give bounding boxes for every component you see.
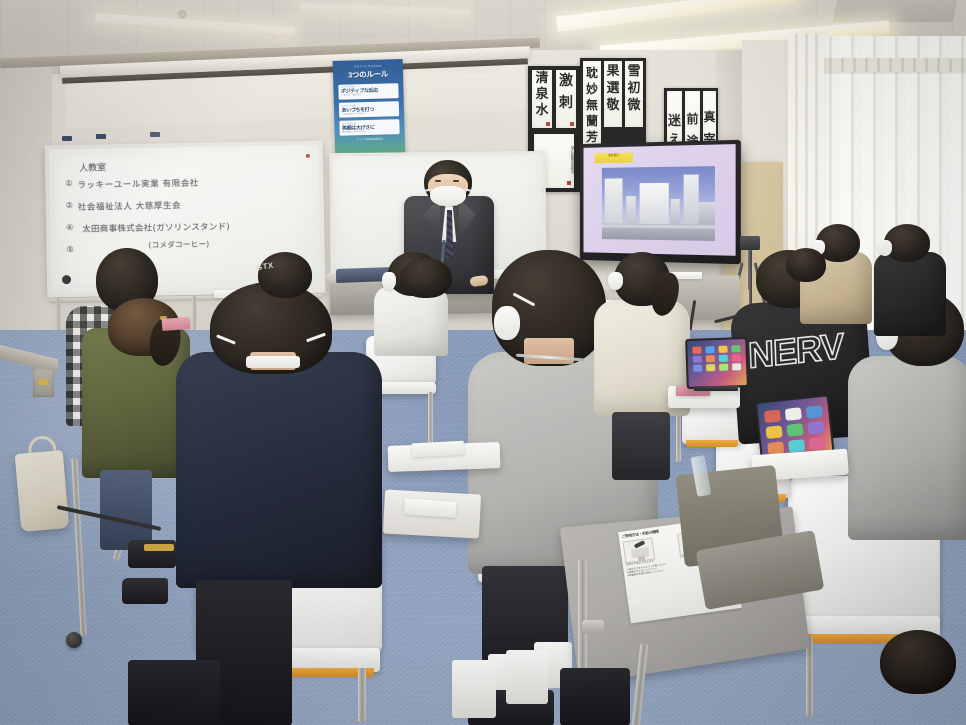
student-sock	[506, 650, 548, 704]
calligraphy-sheet: 清 泉 水	[532, 70, 552, 128]
ceiling-air-vent	[833, 0, 958, 22]
tablet-app-icon[interactable]	[706, 364, 715, 371]
calligraphy-character: 前	[685, 113, 700, 125]
student-shirt-collar	[246, 356, 300, 368]
slide-main-building	[639, 183, 668, 224]
tablet-app-icon[interactable]	[732, 355, 741, 362]
calligraphy-character: 真	[703, 111, 716, 123]
calligraphy-character: 刺	[556, 96, 576, 110]
calligraphy-character: 雪	[625, 65, 643, 78]
student-leg	[100, 470, 152, 550]
whiteboard-corner-magnet	[62, 275, 71, 284]
chair-leg	[428, 392, 433, 444]
student-face-mask	[878, 240, 892, 256]
slide-building	[671, 199, 680, 224]
whiteboard-magnet[interactable]	[62, 136, 72, 141]
classroom-rules-poster: クラスづくりのための 3つのルール ルール その1 ポジティブな反応 うなずき・…	[333, 59, 406, 159]
tablet-app-icon[interactable]	[692, 356, 701, 363]
tablet-app-icon[interactable]	[809, 436, 827, 450]
tablet-app-icon[interactable]	[692, 347, 701, 354]
rule-subtext: うなずき・拍手など	[341, 94, 396, 98]
student-face-mask	[382, 272, 396, 290]
student-head	[786, 248, 826, 282]
slide-building	[698, 202, 714, 225]
pink-item	[162, 317, 191, 331]
tote-bag	[15, 450, 70, 532]
poster-title: 3つのルール	[338, 69, 398, 82]
calligraphy-character: 激	[556, 74, 576, 88]
whiteboard-line-text: ラッキーユール実業 有限会社	[77, 177, 199, 191]
calligraphy-character: 微	[625, 99, 643, 112]
slide-building	[626, 196, 636, 224]
desk-papers	[412, 441, 465, 458]
calligraphy-character: 芳	[583, 131, 601, 143]
presenter-face-mask	[430, 186, 466, 206]
whiteboard-magnet[interactable]	[150, 132, 160, 137]
calligraphy-sheet: 雪 初 微	[625, 61, 643, 127]
tablet-app-icon[interactable]	[785, 408, 803, 422]
student-head	[258, 252, 312, 298]
calligraphy-character: 敬	[604, 99, 622, 112]
tablet-app-icon[interactable]	[705, 347, 714, 354]
chair-seat-edge	[686, 440, 738, 447]
calligraphy-seal	[567, 181, 571, 185]
calligraphy-seal	[546, 122, 550, 126]
tablet-device[interactable]	[685, 337, 749, 389]
tablet-app-grid[interactable]	[692, 346, 742, 381]
instruction-figure	[623, 538, 656, 564]
student-leg	[612, 412, 670, 480]
student-torso	[848, 356, 966, 540]
student-shoe	[122, 578, 168, 604]
student-face-mask	[608, 272, 623, 290]
calligraphy-character: 妙	[583, 83, 601, 95]
tablet-app-icon[interactable]	[718, 346, 727, 353]
whiteboard-red-marker-dot	[306, 154, 310, 158]
poster-footer: キャリア教育推進委員会	[340, 136, 400, 142]
whiteboard-line-number: ④	[66, 223, 73, 232]
calligraphy-character: 水	[532, 104, 552, 117]
poster-rule-card: ルール その2 あいづちを打つ 「なるほど」「いいね」	[339, 101, 399, 117]
chair-caster	[66, 632, 82, 648]
tablet-app-icon[interactable]	[719, 364, 728, 371]
tablet-app-icon[interactable]	[732, 363, 741, 370]
tablet-screen[interactable]	[687, 339, 747, 387]
student-leg	[560, 668, 630, 725]
calligraphy-character: 耽	[583, 67, 601, 79]
calligraphy-character: 選	[604, 82, 622, 95]
shoe-stripe	[144, 544, 174, 551]
tablet-app-icon[interactable]	[786, 423, 804, 437]
presentation-display[interactable]: 会社紹介	[580, 140, 741, 264]
tablet-app-icon[interactable]	[719, 355, 728, 362]
student-head	[880, 630, 956, 694]
poster-rule-card: ルール その3 笑顔は大げさに 相手が話しやすくなる	[339, 120, 399, 136]
calligraphy-character: 泉	[532, 88, 552, 101]
calligraphy-character: 果	[604, 65, 622, 78]
camera-head[interactable]	[740, 236, 760, 250]
poster-rule-card: ルール その1 ポジティブな反応 うなずき・拍手など	[338, 83, 398, 99]
chair-leg	[358, 668, 366, 722]
tablet-app-icon[interactable]	[806, 405, 824, 419]
classroom-scene-photo: 清 泉 水 激 刺 静心和敬清寂風流 耽 妙 無 蘭 芳 蒔 果 選 敬	[0, 0, 966, 725]
whiteboard-line-text: (コメダコーヒー)	[148, 239, 209, 251]
slide-building	[683, 175, 698, 224]
whiteboard-line-number: ②	[66, 201, 73, 210]
calligraphy-character: 初	[625, 82, 643, 95]
slide-label-badge: 会社紹介	[595, 153, 633, 163]
tablet-app-icon[interactable]	[706, 355, 715, 362]
wall-outlet-icon[interactable]	[33, 368, 54, 397]
whiteboard-line-number: ①	[65, 179, 72, 188]
calligraphy-seal	[570, 122, 574, 126]
slide-photo	[602, 166, 714, 241]
presenter-eye	[435, 180, 441, 182]
tablet-app-icon[interactable]	[788, 439, 806, 453]
whiteboard-line-number: ⑤	[66, 245, 73, 254]
tablet-app-grid[interactable]	[763, 405, 826, 454]
calligraphy-character: 迷	[667, 115, 682, 128]
student-head	[400, 258, 452, 298]
student-torso	[176, 352, 382, 588]
whiteboard-line-text: 社会福祉法人 大慈厚生会	[78, 199, 182, 213]
display-screen: 会社紹介	[584, 144, 736, 256]
tablet-stand	[694, 386, 738, 391]
calligraphy-character: 無	[583, 99, 601, 111]
calligraphy-character: 清	[532, 72, 552, 85]
calligraphy-character: 蘭	[583, 115, 601, 127]
student-sock	[452, 660, 496, 718]
slide-building	[604, 179, 622, 224]
calligraphy-sheet: 果 選 敬	[604, 61, 622, 127]
student-face-mask	[494, 306, 520, 340]
tablet-app-icon[interactable]	[807, 421, 825, 435]
tablet-app-icon[interactable]	[732, 346, 741, 353]
whiteboard-magnet[interactable]	[96, 134, 106, 139]
tablet-app-icon[interactable]	[763, 410, 781, 424]
whiteboard-header-text: 人教室	[79, 160, 106, 174]
desk-height-knob[interactable]	[582, 620, 604, 634]
tablet-app-icon[interactable]	[765, 425, 783, 439]
presenter-eye	[453, 180, 459, 182]
tablet-app-icon[interactable]	[693, 365, 702, 372]
whiteboard-line-text: 太田商事株式会社(ガソリンスタンド)	[82, 220, 230, 235]
student-leg	[128, 660, 220, 725]
calligraphy-inscription: 静心和敬清寂風流	[541, 138, 573, 182]
ceiling-sensor-icon	[178, 10, 187, 19]
student-torso	[874, 252, 946, 336]
calligraphy-sheet: 激 刺	[556, 70, 576, 128]
